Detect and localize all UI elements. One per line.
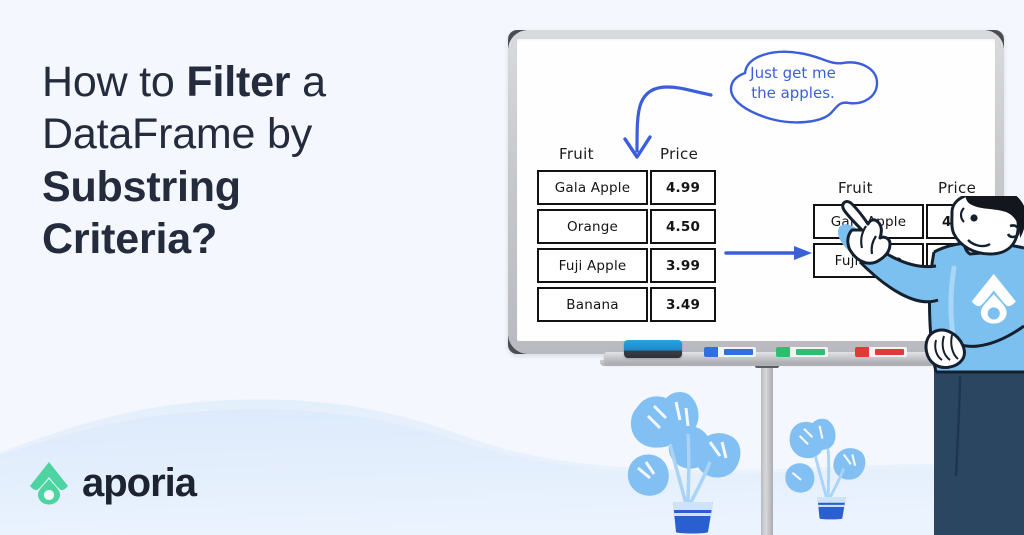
whiteboard-eraser[interactable] bbox=[624, 340, 682, 358]
poster-canvas: How to Filter a DataFrame by Substring C… bbox=[0, 0, 1024, 535]
result-table-header-price: Price bbox=[938, 179, 976, 197]
speech-bubble-text: Just get me the apples. bbox=[713, 63, 873, 104]
source-cell-fruit: Gala Apple bbox=[537, 170, 648, 205]
marker-cap-green bbox=[776, 347, 790, 357]
result-table-header-fruit: Fruit bbox=[838, 179, 873, 197]
source-cell-fruit: Fuji Apple bbox=[537, 248, 648, 283]
speech-bubble-line-1: Just get me bbox=[713, 63, 873, 83]
logo-wordmark: aporia bbox=[82, 463, 196, 503]
pointing-hand-icon bbox=[843, 202, 890, 264]
speech-bubble-line-2: the apples. bbox=[713, 83, 873, 103]
source-cell-price: 3.99 bbox=[650, 248, 716, 283]
source-cell-fruit: Banana bbox=[537, 287, 648, 322]
aporia-logo[interactable]: aporia bbox=[28, 460, 196, 506]
marker-green[interactable] bbox=[776, 347, 828, 357]
whiteboard-stand-pole bbox=[761, 366, 773, 535]
headline-line-1: How to Filter a bbox=[42, 56, 462, 108]
headline-line-3: Substring bbox=[42, 161, 462, 213]
person-illustration bbox=[838, 196, 1024, 535]
source-cell-fruit: Orange bbox=[537, 209, 648, 244]
marker-stripe bbox=[796, 349, 825, 355]
marker-cap-blue bbox=[704, 347, 718, 357]
page-title: How to Filter a DataFrame by Substring C… bbox=[42, 56, 462, 266]
marker-blue[interactable] bbox=[704, 347, 756, 357]
source-cell-price: 4.99 bbox=[650, 170, 716, 205]
marker-body bbox=[790, 347, 828, 357]
transform-arrow-icon bbox=[724, 243, 820, 263]
marker-body bbox=[718, 347, 756, 357]
plant-left bbox=[626, 386, 761, 535]
source-table-header-price: Price bbox=[660, 145, 698, 163]
marker-stripe bbox=[724, 349, 753, 355]
headline-line-2: DataFrame by bbox=[42, 108, 462, 160]
source-cell-price: 3.49 bbox=[650, 287, 716, 322]
source-table: Fruit Price Gala Apple 4.99 Orange 4.50 … bbox=[537, 145, 717, 325]
headline-line-4: Criteria? bbox=[42, 213, 462, 265]
aporia-droplet-icon bbox=[28, 460, 70, 506]
source-table-header-fruit: Fruit bbox=[559, 145, 594, 163]
source-cell-price: 4.50 bbox=[650, 209, 716, 244]
eye bbox=[970, 214, 977, 221]
